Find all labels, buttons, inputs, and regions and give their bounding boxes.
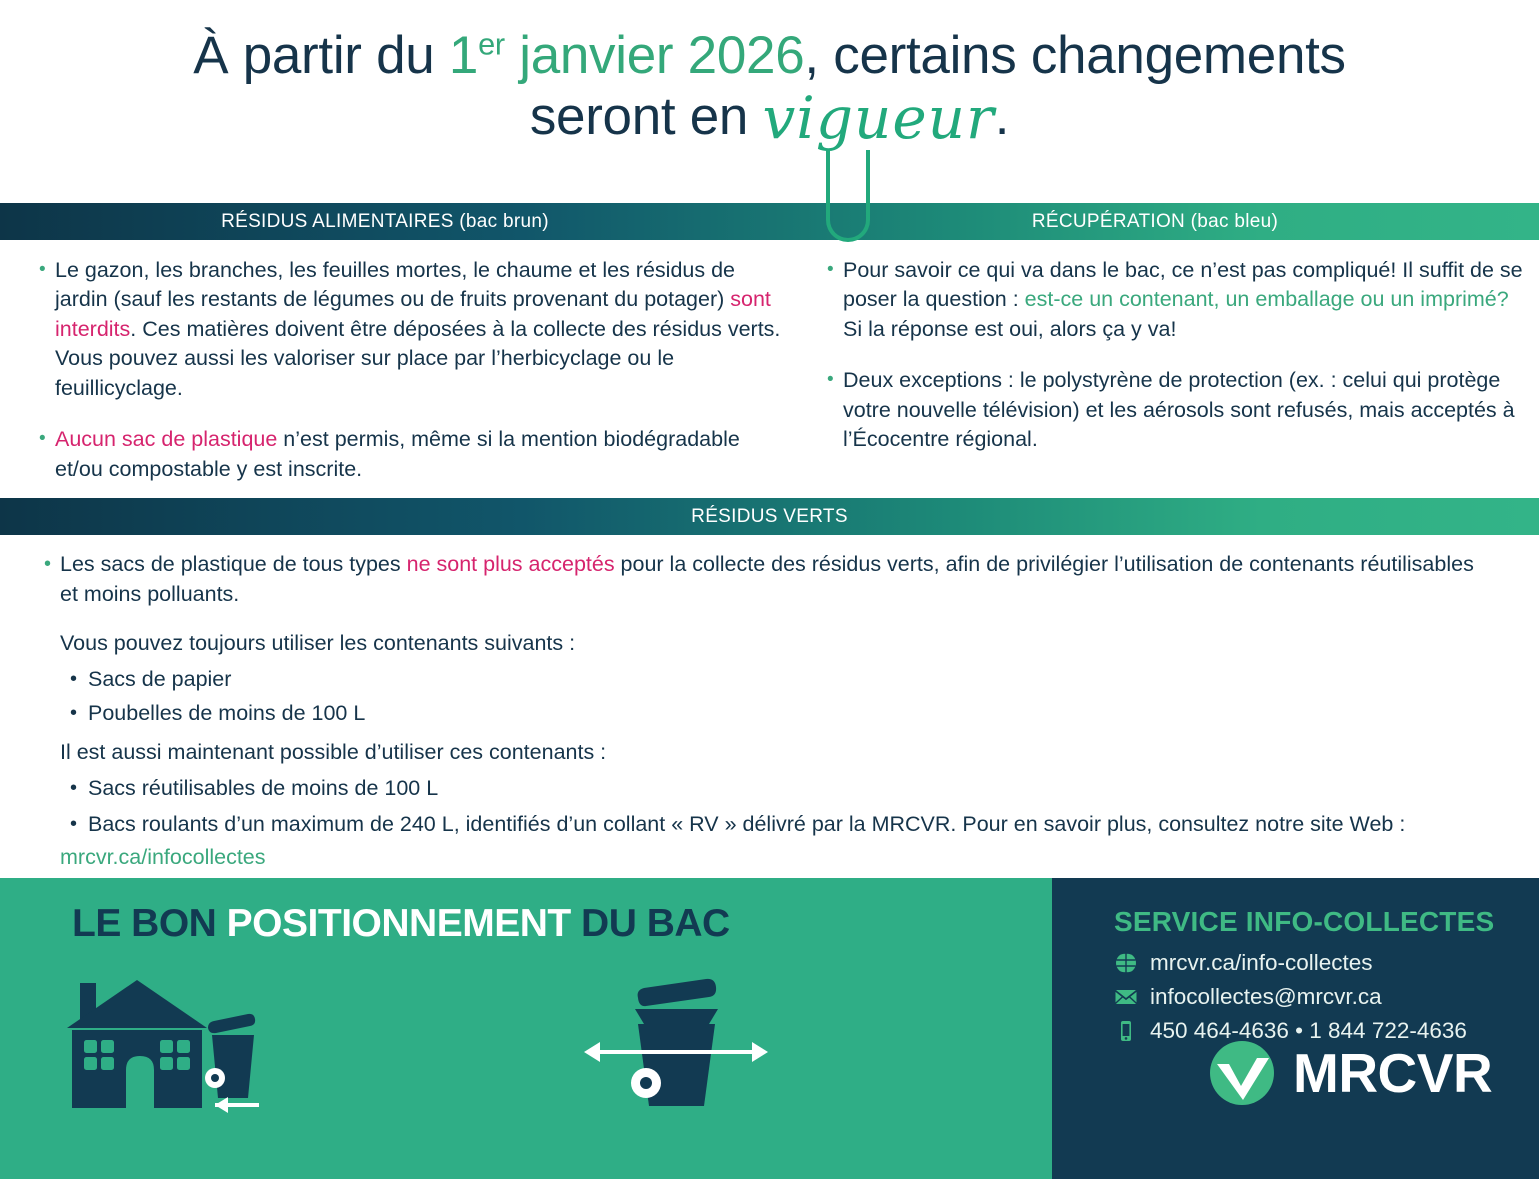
recovery-column: • Pour savoir ce qui va dans le bac, ce … [824, 256, 1524, 459]
house-icon [62, 978, 272, 1113]
bullet-dot: • [60, 774, 88, 804]
bar-label-food: RÉSIDUS ALIMENTAIRES (bac brun) [0, 211, 770, 233]
bin-spacing-icon [578, 978, 778, 1113]
title-date-ordinal: er [478, 26, 505, 61]
infographic-page: À partir du 1er janvier 2026, certains c… [0, 0, 1539, 1179]
contact-email-row[interactable]: infocollectes@mrcvr.ca [1114, 984, 1382, 1010]
list-item: • Deux exceptions : le polystyrène de pr… [824, 366, 1524, 454]
recovery-bullet-1-text: Pour savoir ce qui va dans le bac, ce n’… [843, 256, 1524, 344]
bullet-dot: • [60, 665, 88, 695]
title-period: . [995, 87, 1009, 146]
left-arrow-icon [215, 1097, 259, 1113]
heading-part-3: DU BAC [571, 902, 730, 945]
globe-icon [1114, 951, 1138, 975]
list-item: • Le gazon, les branches, les feuilles m… [36, 256, 781, 403]
list-item: • Sacs de papier [60, 665, 1504, 695]
list-item-label: Sacs réutilisables de moins de 100 L [88, 774, 438, 804]
bullet-dot: • [36, 425, 55, 484]
bar-label-recovery: RÉCUPÉRATION (bac bleu) [790, 211, 1520, 233]
title-date-rest: janvier 2026 [505, 26, 805, 85]
green-residue-lead: Les sacs de plastique de tous types ne s… [60, 550, 1490, 609]
section-bar-green-residue: RÉSIDUS VERTS [0, 498, 1539, 535]
green-residue-body: • Les sacs de plastique de tous types ne… [44, 550, 1504, 873]
title-line-2: seront en vigueur. [0, 84, 1539, 145]
green-residue-intro-2: Il est aussi maintenant possible d’utili… [60, 738, 1504, 768]
list-item-label: Bacs roulants d’un maximum de 240 L, ide… [88, 810, 1504, 840]
bar-label-green-residue: RÉSIDUS VERTS [0, 506, 1539, 528]
bullet-dot: • [36, 256, 55, 403]
list-item: • Bacs roulants d’un maximum de 240 L, i… [60, 810, 1504, 840]
envelope-icon [1114, 985, 1138, 1009]
contact-website[interactable]: mrcvr.ca/info-collectes [1150, 950, 1373, 976]
food-bullet-1-text: Le gazon, les branches, les feuilles mor… [55, 256, 781, 403]
bin-placement-panel: LE BON POSITIONNEMENT DU BAC [0, 878, 1052, 1179]
highlight-green: est-ce un contenant, un emballage ou un … [1025, 287, 1509, 311]
bullet-dot: • [60, 699, 88, 729]
list-item-label: Sacs de papier [88, 665, 231, 695]
text-run: Si la réponse est oui, alors ça y va! [843, 317, 1176, 341]
script-flourish-tail [826, 150, 870, 242]
text-run: . Ces matières doivent être déposées à l… [55, 317, 780, 400]
title-date-number: 1 [449, 26, 478, 85]
bullet-dot: • [44, 550, 60, 609]
heading-part-1: LE BON [72, 902, 227, 945]
green-residue-intro-1: Vous pouvez toujours utiliser les conten… [60, 629, 1504, 659]
list-item: • Pour savoir ce qui va dans le bac, ce … [824, 256, 1524, 344]
title-date: 1er janvier 2026 [449, 26, 805, 85]
title-line-1: À partir du 1er janvier 2026, certains c… [0, 28, 1539, 84]
food-bullet-2-text: Aucun sac de plastique n’est permis, mêm… [55, 425, 781, 484]
title-prefix: À partir du [193, 26, 449, 85]
list-item: • Sacs réutilisables de moins de 100 L [60, 774, 1504, 804]
list-item: • Poubelles de moins de 100 L [60, 699, 1504, 729]
bullet-dot: • [824, 256, 843, 344]
green-residue-list-2: • Sacs réutilisables de moins de 100 L •… [60, 774, 1504, 839]
text-run: Les sacs de plastique de tous types [60, 552, 407, 576]
highlight-pink: ne sont plus acceptés [407, 552, 615, 576]
title-line2-prefix: seront en [530, 87, 763, 146]
bullet-dot: • [60, 810, 88, 840]
bin-icon [205, 1014, 255, 1098]
bullet-dot: • [824, 366, 843, 454]
section-bar-top: RÉSIDUS ALIMENTAIRES (bac brun) RÉCUPÉRA… [0, 203, 1539, 240]
house-bin-illustration [62, 978, 272, 1118]
contact-panel: SERVICE INFO-COLLECTES mrcvr.ca/info-col… [1052, 878, 1539, 1179]
title-suffix: , certains changements [804, 26, 1345, 85]
food-column: • Le gazon, les branches, les feuilles m… [36, 256, 781, 488]
contact-title: SERVICE INFO-COLLECTES [1114, 906, 1494, 938]
list-item: • Les sacs de plastique de tous types ne… [44, 550, 1504, 609]
list-item: • Aucun sac de plastique n’est permis, m… [36, 425, 781, 484]
page-title: À partir du 1er janvier 2026, certains c… [0, 28, 1539, 146]
list-item-label: Poubelles de moins de 100 L [88, 699, 365, 729]
bin-clearance-illustration [578, 978, 778, 1118]
website-link[interactable]: mrcvr.ca/infocollectes [60, 843, 1504, 873]
bin-placement-heading: LE BON POSITIONNEMENT DU BAC [72, 902, 730, 946]
green-residue-list-1: • Sacs de papier • Poubelles de moins de… [60, 665, 1504, 728]
mobile-phone-icon [1114, 1019, 1138, 1043]
mrcvr-wordmark: MRCVR [1293, 1041, 1492, 1105]
heading-part-2: POSITIONNEMENT [227, 902, 571, 945]
contact-website-row[interactable]: mrcvr.ca/info-collectes [1114, 950, 1373, 976]
highlight-pink: Aucun sac de plastique [55, 427, 277, 451]
mrcvr-mark-icon [1207, 1038, 1277, 1108]
mrcvr-logo: MRCVR [1207, 1038, 1492, 1108]
text-run: Le gazon, les branches, les feuilles mor… [55, 258, 735, 311]
recovery-bullet-2-text: Deux exceptions : le polystyrène de prot… [843, 366, 1524, 454]
title-script-word: vigueur [763, 84, 995, 152]
contact-email[interactable]: infocollectes@mrcvr.ca [1150, 984, 1382, 1010]
